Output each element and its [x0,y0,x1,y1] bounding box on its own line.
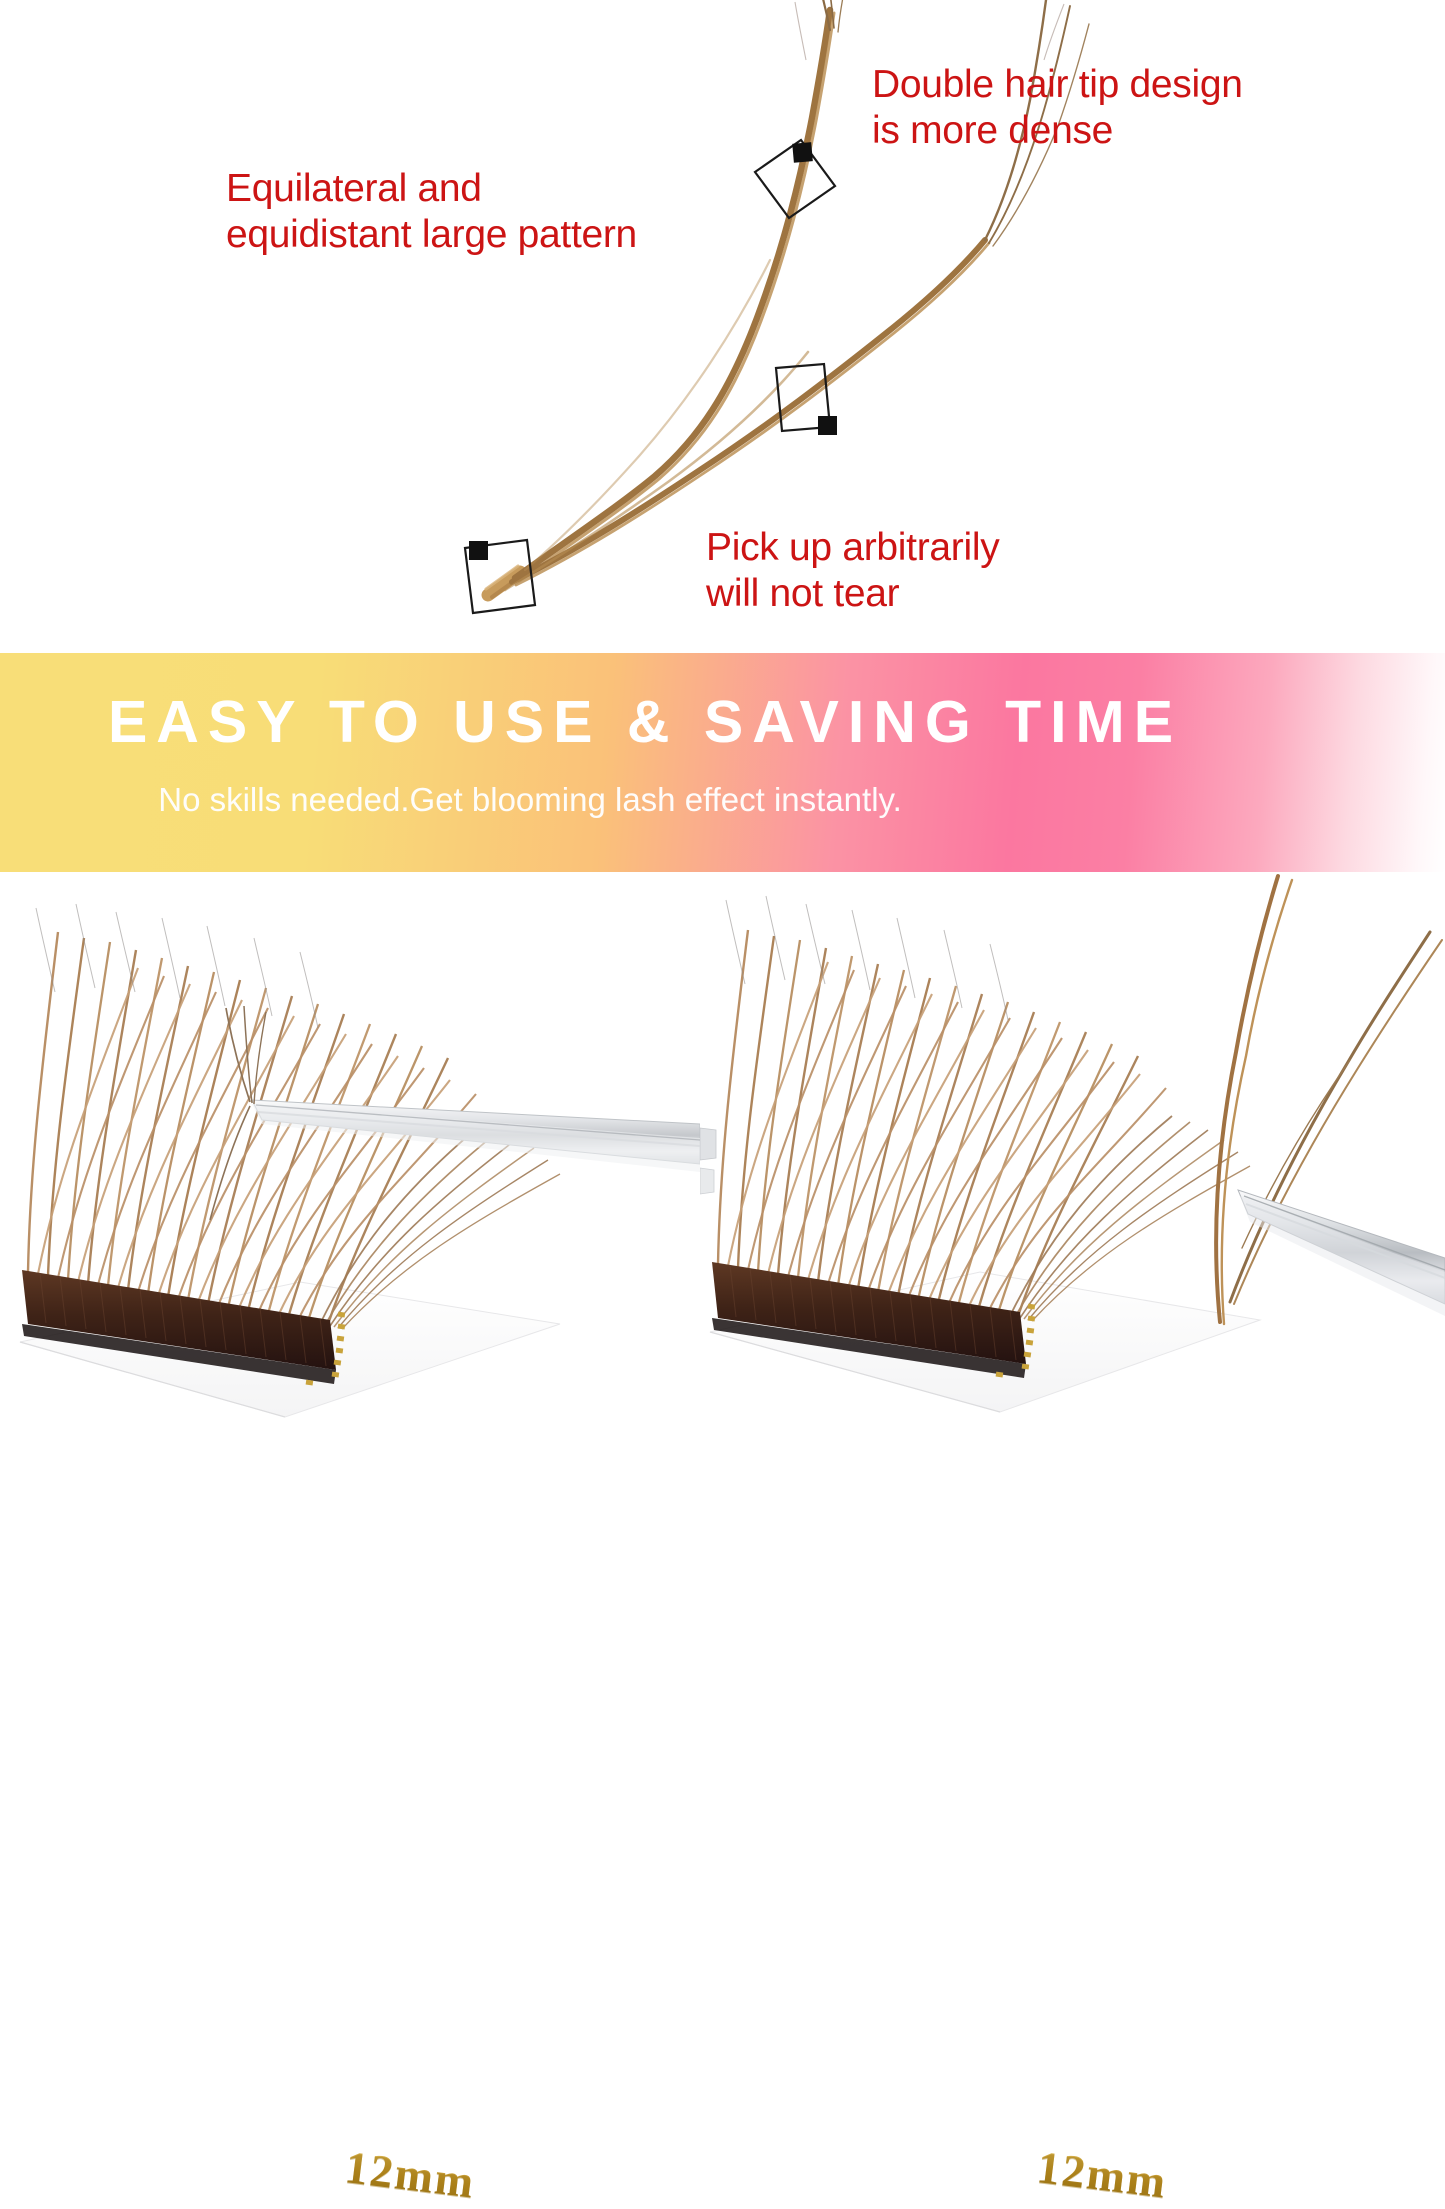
product-photo-left [0,872,700,1445]
lash-fine-tips [795,2,1064,60]
callout-double-hair-tip: Double hair tip design is more dense [872,62,1243,154]
product-photo-row: 12mm 12mm [0,872,1445,1445]
lash-length-label-right: 12mm [1034,2140,1170,2209]
callout-equilateral-pattern: Equilateral and equidistant large patter… [226,166,637,258]
promo-banner: EASY TO USE & SAVING TIME No skills need… [0,653,1445,872]
banner-subheadline: No skills needed.Get blooming lash effec… [0,781,1060,819]
callout-pick-up-arbitrarily: Pick up arbitrarily will not tear [706,525,999,617]
product-photo-right [700,872,1445,1445]
top-illustration-section: 0% [0,0,1445,653]
lash-strand-left [515,0,846,581]
lash-length-label-left: 12mm [342,2140,478,2209]
banner-headline: EASY TO USE & SAVING TIME [0,688,1290,756]
